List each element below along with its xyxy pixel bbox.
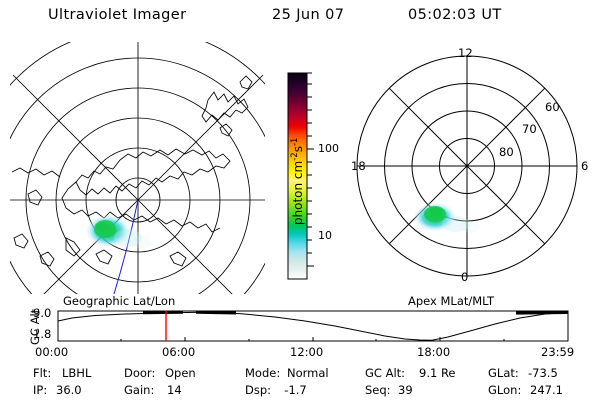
mlt-label-18: 18	[351, 159, 366, 173]
ultraviolet-imager-window: Ultraviolet Imager 25 Jun 07 05:02:03 UT	[0, 0, 600, 400]
strip-frame	[58, 311, 568, 341]
mlt-label-12: 12	[458, 46, 473, 60]
aurora-emission-patch	[85, 214, 152, 249]
strip-bottom-ticks	[58, 337, 568, 341]
status-key-gcalt: GC Alt:	[365, 366, 405, 380]
status-key-gain: Gain:	[124, 383, 154, 397]
observation-time: 05:02:03 UT	[408, 7, 502, 23]
time-tick-2359: 23:59	[541, 345, 574, 359]
colorbar-tick-label-10: 10	[318, 229, 332, 242]
time-tick-1200: 12:00	[290, 345, 323, 359]
time-tick-0600: 06:00	[162, 345, 195, 359]
orbit-altitude-strip[interactable]	[0, 300, 600, 346]
status-row-2: IP: 36.0 Gain: 14 Dsp: -1.7 Seq: 39 GLon…	[0, 383, 600, 398]
time-tick-1800: 18:00	[417, 345, 450, 359]
status-value-glon: 247.1	[530, 383, 563, 397]
status-value-gcalt: 9.1 Re	[419, 366, 456, 380]
instrument-title: Ultraviolet Imager	[48, 7, 186, 23]
colorbar-axis-title-mid: s	[291, 146, 305, 152]
status-value-dsp: -1.7	[277, 383, 307, 397]
status-key-ip: IP:	[33, 383, 47, 397]
status-row-1: Flt: LBHL Door: Open Mode: Normal GC Alt…	[0, 366, 600, 381]
status-value-mode: Normal	[287, 366, 329, 380]
colorbar-axis-title-exp1: -2	[290, 152, 300, 160]
status-value-flt: LBHL	[62, 366, 91, 380]
mlt-label-0: 0	[461, 270, 468, 284]
mlat-ring-label-60: 60	[545, 100, 560, 114]
aurora-emission-patch-apex	[413, 202, 480, 233]
status-key-seq: Seq:	[365, 383, 391, 397]
status-key-dsp: Dsp:	[245, 383, 271, 397]
gc-altitude-trace	[58, 312, 568, 340]
status-value-gain: 14	[167, 383, 182, 397]
status-key-door: Door:	[124, 366, 155, 380]
status-value-door: Open	[165, 366, 196, 380]
status-key-flt: Flt:	[33, 366, 51, 380]
geographic-polar-plot	[10, 42, 265, 294]
status-key-mode: Mode:	[245, 366, 280, 380]
status-key-glat: GLat:	[488, 366, 519, 380]
colorbar-axis-title-exp2: -1	[290, 138, 300, 146]
mlat-ring-label-80: 80	[499, 145, 514, 159]
data-coverage-bars	[143, 312, 568, 313]
gc-alt-tick-max: 9.0	[33, 306, 51, 320]
status-value-glat: -73.5	[528, 366, 558, 380]
status-value-ip: 36.0	[56, 383, 82, 397]
status-key-glon: GLon:	[488, 383, 521, 397]
time-tick-0000: 00:00	[35, 345, 68, 359]
colorbar-axis-title-main: photon cm	[291, 161, 305, 225]
status-value-seq: 39	[398, 383, 413, 397]
observation-date: 25 Jun 07	[272, 7, 344, 23]
mlat-ring-label-70: 70	[522, 122, 537, 136]
apex-polar-plot: 12 6 0 18 80 70 60	[336, 42, 598, 294]
gc-alt-tick-min: 1.8	[33, 327, 51, 341]
mlt-spokes	[357, 56, 577, 276]
status-footer: Flt: LBHL Door: Open Mode: Normal GC Alt…	[0, 366, 600, 398]
mlt-label-6: 6	[581, 159, 588, 173]
